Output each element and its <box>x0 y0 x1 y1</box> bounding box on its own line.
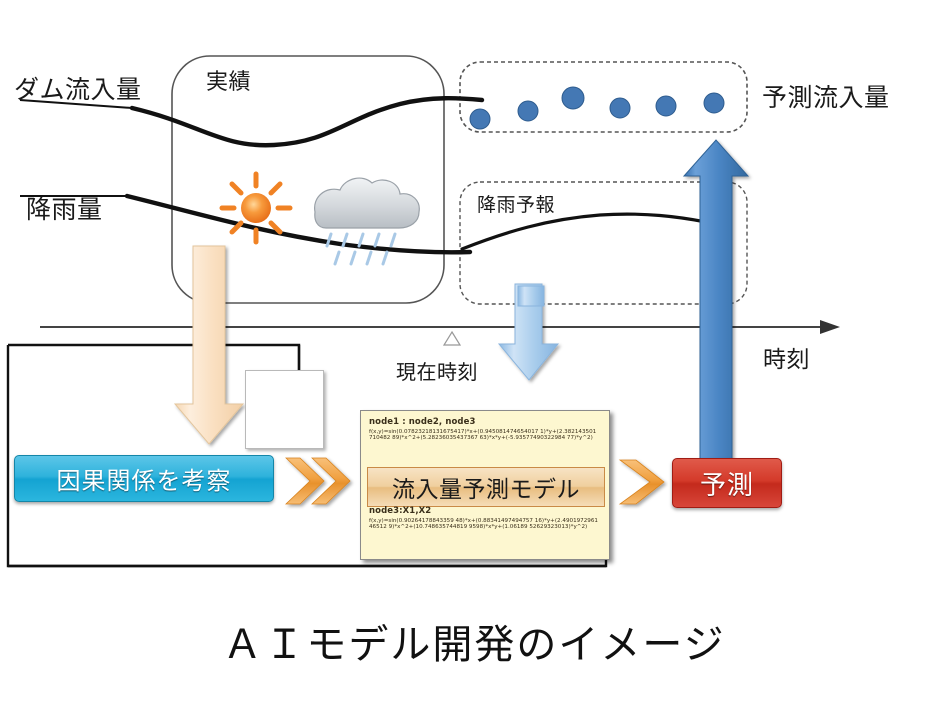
predict-button[interactable]: 予測 <box>672 458 782 508</box>
orange-double-chevron <box>286 458 350 504</box>
forecast-bar-glyph <box>518 286 544 306</box>
winmuse-tagline-line1: Engineering <box>255 388 290 395</box>
prediction-dot <box>656 96 676 116</box>
prediction-dot <box>610 98 630 118</box>
diagram-canvas: ダム流入量 降雨量 実績 予測流入量 降雨予報 現在時刻 時刻 因果関係を考察 … <box>0 0 948 722</box>
formula-top-head: node1 : node2, node3 <box>369 418 599 428</box>
sun-icon <box>222 174 290 242</box>
formula-block-top: node1 : node2, node3 f(x,y)=sin(0.078232… <box>369 418 599 441</box>
formula-bottom-head: node3:X1,X2 <box>369 507 599 517</box>
winmuse-logo: Engineering Solution System Win muSe <box>245 370 324 449</box>
prediction-dot <box>704 93 724 113</box>
model-title-label: 流入量予測モデル <box>392 470 580 504</box>
winmuse-word-bottom: muSe <box>260 424 313 440</box>
time-axis-arrowhead <box>820 320 840 334</box>
inflow-prediction-model-card[interactable]: node1 : node2, node3 f(x,y)=sin(0.078232… <box>360 410 610 560</box>
prediction-dot <box>470 109 490 129</box>
orange-single-chevron <box>620 460 664 504</box>
label-time-axis: 時刻 <box>763 340 810 374</box>
label-rainfall: 降雨量 <box>26 190 103 226</box>
prediction-dot <box>518 101 538 121</box>
formula-bottom-body: f(x,y)=sin(0.90264178843359 48)*x+(0.883… <box>369 518 599 531</box>
winmuse-tagline-line2: Solution <box>255 395 290 402</box>
label-predicted-inflow: 予測流入量 <box>762 78 890 114</box>
label-dam-inflow: ダム流入量 <box>14 70 142 106</box>
predict-label: 予測 <box>700 465 754 502</box>
formula-top-body: f(x,y)=sin(0.07823218131675417)*x+(0.945… <box>369 429 599 442</box>
causal-analysis-label: 因果関係を考察 <box>57 461 232 496</box>
prediction-dot <box>562 87 584 109</box>
formula-block-bottom: node3:X1,X2 f(x,y)=sin(0.90264178843359 … <box>369 507 599 530</box>
model-title-band: 流入量予測モデル <box>367 467 605 507</box>
label-current-time: 現在時刻 <box>396 356 478 385</box>
label-actual-window: 実績 <box>206 64 251 96</box>
predicted-inflow-box <box>460 62 747 132</box>
current-time-marker <box>444 332 460 345</box>
diagram-title: ＡＩモデル開発のイメージ <box>0 612 948 670</box>
causal-analysis-button[interactable]: 因果関係を考察 <box>14 455 274 502</box>
label-rainfall-forecast: 降雨予報 <box>477 190 555 217</box>
